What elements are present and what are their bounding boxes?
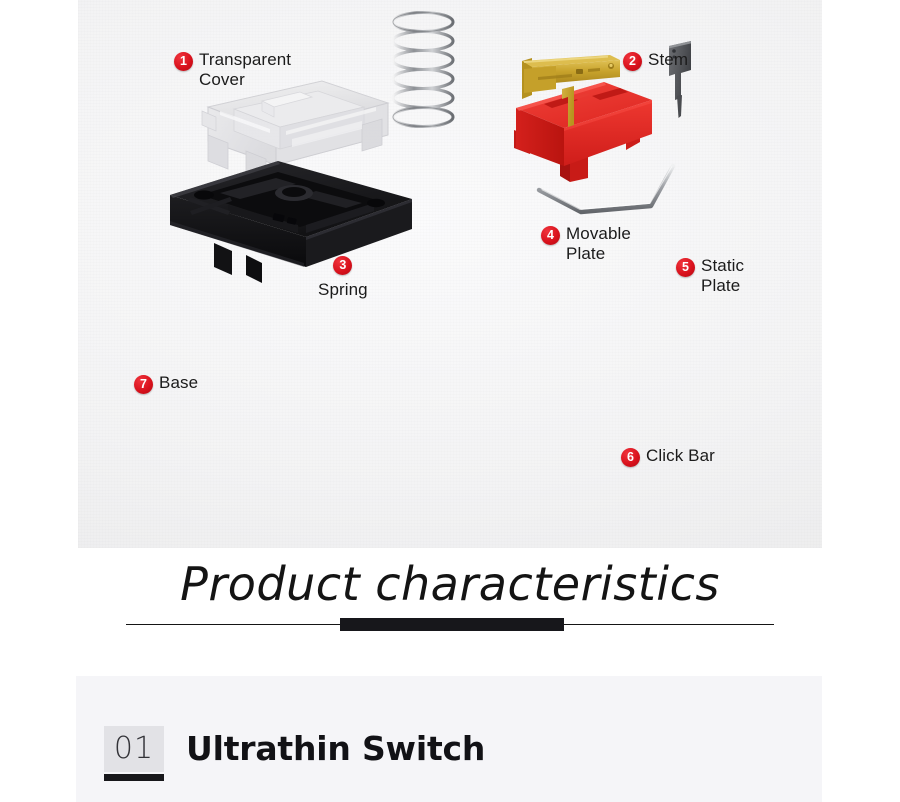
badge-number-4: 4: [541, 226, 560, 245]
feature-section-panel: 01 Ultrathin Switch: [76, 676, 822, 802]
callout-base: 7 Base: [134, 373, 198, 394]
feature-number-block: 01: [104, 726, 164, 772]
callout-spring: 3 Spring: [318, 256, 368, 300]
badge-number-3: 3: [333, 256, 352, 275]
callout-label-movable-plate: Movable Plate: [566, 224, 631, 264]
badge-number-7: 7: [134, 375, 153, 394]
feature-heading-row: 01 Ultrathin Switch: [104, 726, 485, 772]
callout-label-click-bar: Click Bar: [646, 446, 715, 466]
coil-spring-icon: [383, 5, 463, 137]
movable-plate-icon: [516, 55, 628, 129]
callout-label-stem: Stem: [648, 50, 688, 70]
black-base-icon: [166, 155, 420, 285]
infographic-page: 1 Transparent Cover 2 Stem 3 Spring 4 Mo…: [0, 0, 900, 802]
feature-heading: Ultrathin Switch: [186, 727, 485, 772]
click-bar-icon: [533, 160, 693, 222]
feature-number-underline: [104, 774, 164, 781]
callout-label-transparent-cover: Transparent Cover: [199, 50, 291, 90]
feature-number: 01: [104, 726, 164, 772]
callout-label-spring: Spring: [318, 280, 368, 300]
callout-stem: 2 Stem: [623, 50, 688, 71]
title-divider-block: [340, 618, 564, 631]
callout-label-base: Base: [159, 373, 198, 393]
title-divider: [126, 618, 774, 632]
badge-number-1: 1: [174, 52, 193, 71]
exploded-diagram-panel: 1 Transparent Cover 2 Stem 3 Spring 4 Mo…: [78, 0, 822, 548]
callout-transparent-cover: 1 Transparent Cover: [174, 50, 291, 90]
callout-click-bar: 6 Click Bar: [621, 446, 715, 467]
badge-number-5: 5: [676, 258, 695, 277]
badge-number-2: 2: [623, 52, 642, 71]
badge-number-6: 6: [621, 448, 640, 467]
callout-movable-plate: 4 Movable Plate: [541, 224, 631, 264]
callout-static-plate: 5 Static Plate: [676, 256, 744, 296]
callout-label-static-plate: Static Plate: [701, 256, 744, 296]
section-title-block: Product characteristics: [0, 556, 900, 642]
page-title: Product characteristics: [0, 556, 900, 612]
